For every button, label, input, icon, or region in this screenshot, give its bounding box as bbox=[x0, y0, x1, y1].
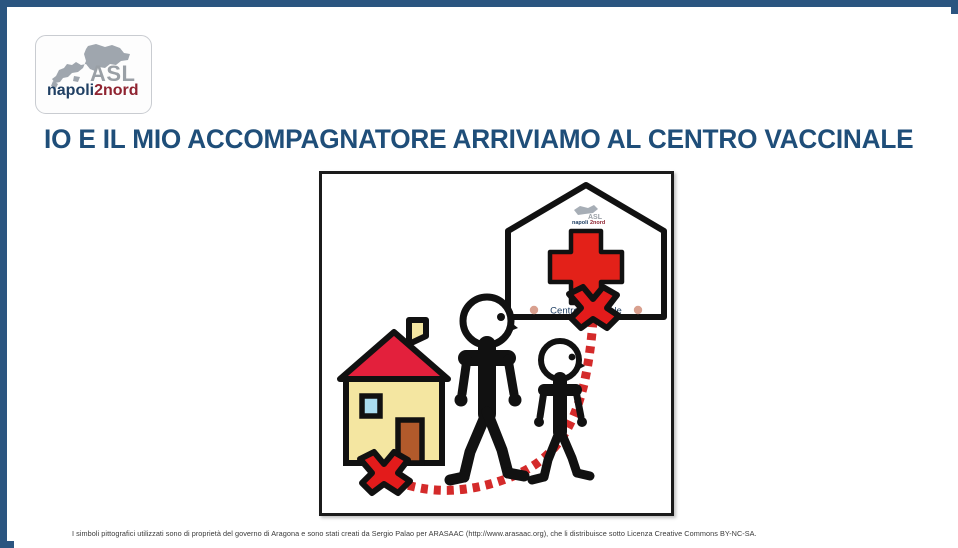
chimney bbox=[409, 320, 426, 344]
adult-arm-back bbox=[462, 359, 467, 394]
slide-frame: ASL napoli2nord IO E IL MIO ACCOMPAGNATO… bbox=[0, 0, 958, 548]
clinic-label-dot-left bbox=[530, 306, 538, 314]
house-roof bbox=[340, 332, 448, 379]
adult-hand-front bbox=[509, 394, 522, 407]
child-person bbox=[532, 341, 590, 480]
adult-arm-front bbox=[508, 359, 514, 394]
svg-text:napoli: napoli bbox=[572, 220, 589, 226]
pictogram-panel: ASL napoli 2nord Centro Vaccinale bbox=[319, 171, 674, 516]
child-arm-front bbox=[576, 391, 581, 417]
asl-logo: ASL napoli2nord bbox=[35, 35, 152, 114]
start-x-marker bbox=[360, 452, 410, 493]
child-leg-back bbox=[544, 430, 560, 477]
adult-hand-back bbox=[455, 394, 468, 407]
child-leg-front bbox=[560, 430, 577, 473]
logo-word-secondary: 2nord bbox=[94, 82, 138, 99]
footer-credit: I simboli pittografici utilizzati sono d… bbox=[72, 529, 922, 538]
child-arm-back bbox=[540, 391, 544, 417]
home-building bbox=[340, 320, 448, 463]
adult-eye bbox=[497, 313, 505, 321]
pictogram-illustration: ASL napoli 2nord Centro Vaccinale bbox=[322, 174, 671, 513]
house-window bbox=[362, 396, 380, 416]
adult-leg-front bbox=[487, 412, 508, 473]
clinic-label-dot-right bbox=[634, 306, 642, 314]
child-foot-front bbox=[577, 473, 590, 476]
child-foot-back bbox=[532, 477, 544, 480]
adult-foot-front bbox=[508, 473, 524, 476]
slide-inner-area: ASL napoli2nord IO E IL MIO ACCOMPAGNATO… bbox=[14, 14, 958, 548]
logo-wordmark: napoli2nord bbox=[47, 83, 139, 99]
adult-accompanying-person bbox=[450, 297, 524, 480]
adult-leg-back bbox=[464, 412, 487, 477]
logo-word-primary: napoli bbox=[47, 82, 94, 99]
page-title: IO E IL MIO ACCOMPAGNATORE ARRIVIAMO AL … bbox=[44, 124, 917, 155]
child-hand-front bbox=[577, 417, 587, 427]
child-hand-back bbox=[534, 417, 544, 427]
svg-text:2nord: 2nord bbox=[590, 220, 605, 226]
child-eye bbox=[569, 354, 576, 361]
adult-foot-back bbox=[450, 477, 464, 480]
